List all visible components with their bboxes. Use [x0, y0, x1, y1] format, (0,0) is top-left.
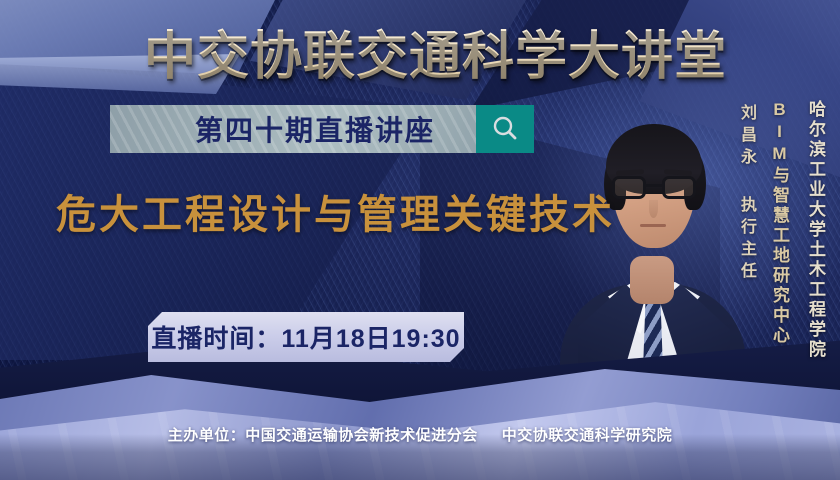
footer-organizer-primary: 主办单位：中国交通运输协会新技术促进分会: [168, 427, 478, 444]
footer-organizers: 主办单位：中国交通运输协会新技术促进分会中交协联交通科学研究院: [0, 424, 840, 445]
glasses-bridge: [646, 184, 662, 187]
speaker-portrait: [556, 96, 746, 396]
glasses-lens-right: [662, 176, 696, 199]
broadcast-time-badge: 直播时间：11月18日19:30: [148, 312, 464, 362]
portrait-nose: [649, 200, 658, 218]
speaker-name: 刘昌永: [734, 104, 758, 170]
footer-organizer-secondary: 中交协联交通科学研究院: [502, 427, 673, 444]
speaker-role: 执行主任: [734, 196, 758, 284]
broadcast-time-text: 直播时间：11月18日19:30: [151, 319, 460, 355]
speaker-affiliation-center: BIM与智慧工地研究中心: [767, 100, 792, 346]
search-icon[interactable]: [476, 105, 534, 153]
portrait-mouth: [640, 224, 666, 227]
subtitle-bar: 第四十期直播讲座: [110, 105, 534, 153]
speaker-affiliation-school: 哈尔滨工业大学土木工程学院: [803, 100, 828, 360]
subtitle-label: 第四十期直播讲座: [151, 109, 435, 149]
poster-root: 中交协联交通科学大讲堂 第四十期直播讲座 危大工程设计与管理关键技术 直播时间：…: [0, 0, 840, 480]
portrait-neck: [630, 256, 674, 304]
lecture-headline: 危大工程设计与管理关键技术: [56, 182, 615, 240]
page-title: 中交协联交通科学大讲堂: [144, 14, 727, 89]
glasses-icon: [610, 176, 698, 200]
glasses-lens-left: [612, 176, 646, 199]
subtitle-bar-body: 第四十期直播讲座: [110, 105, 476, 153]
